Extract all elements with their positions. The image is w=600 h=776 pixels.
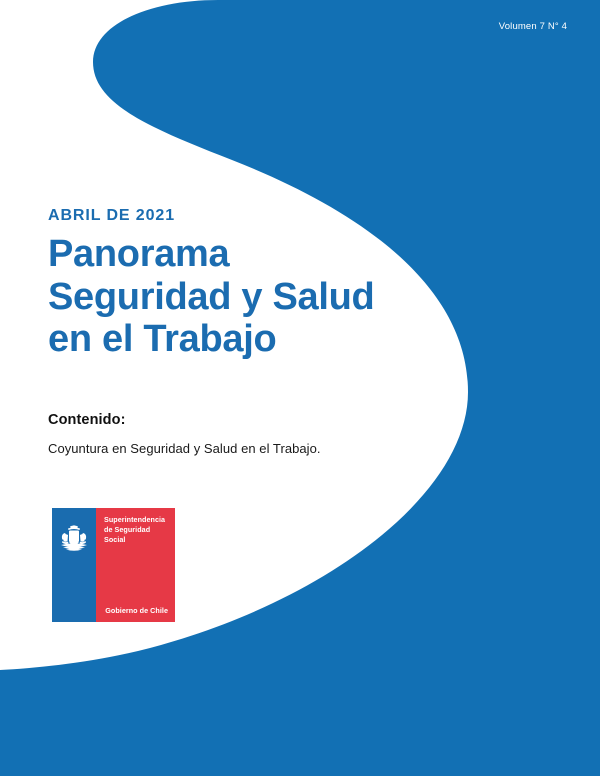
suseso-logo: Superintendencia de Seguridad Social Gob… [52,508,175,622]
contents-block: Contenido: Coyuntura en Seguridad y Salu… [48,412,468,456]
logo-organization-name: Superintendencia de Seguridad Social [104,515,165,546]
logo-blue-panel [52,508,96,622]
logo-government-name: Gobierno de Chile [105,606,168,615]
contents-item: Coyuntura en Seguridad y Salud en el Tra… [48,441,468,456]
logo-red-panel: Superintendencia de Seguridad Social Gob… [96,508,175,622]
volume-label: Volumen 7 N° 4 [499,21,567,32]
document-cover: Volumen 7 N° 4 ABRIL DE 2021 Panorama Se… [0,0,600,776]
contents-heading: Contenido: [48,412,468,428]
chile-coat-of-arms-icon [58,524,90,554]
page-title: Panorama Seguridad y Salud en el Trabajo [48,233,448,361]
title-block: ABRIL DE 2021 Panorama Seguridad y Salud… [48,208,448,361]
s-swoosh-decoration [0,0,600,776]
issue-date: ABRIL DE 2021 [48,208,448,224]
